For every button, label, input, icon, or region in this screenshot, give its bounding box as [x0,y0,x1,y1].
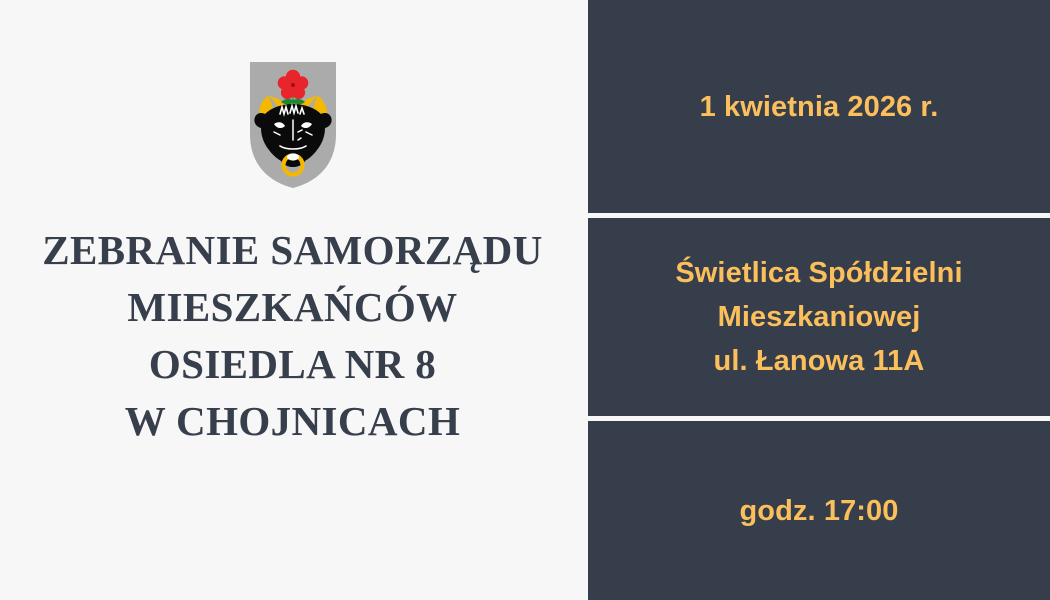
event-time-card: godz. 17:00 [588,421,1050,600]
headline-line-3: OSIEDLA NR 8 [42,336,542,393]
headline-line-4: W CHOJNICACH [42,393,542,450]
page-title: ZEBRANIE SAMORZĄDU MIESZKAŃCÓW OSIEDLA N… [12,222,572,450]
event-time-text: godz. 17:00 [739,489,898,533]
right-panel: 1 kwietnia 2026 r. Świetlica Spółdzielni… [585,0,1050,600]
left-panel: ZEBRANIE SAMORZĄDU MIESZKAŃCÓW OSIEDLA N… [0,0,585,600]
event-date-text: 1 kwietnia 2026 r. [700,85,939,129]
event-location-card: Świetlica Spółdzielni Mieszkaniowej ul. … [588,218,1050,416]
headline-line-2: MIESZKAŃCÓW [42,279,542,336]
event-date-card: 1 kwietnia 2026 r. [588,0,1050,213]
event-location-line-1: Świetlica Spółdzielni [675,251,962,295]
headline-line-1: ZEBRANIE SAMORZĄDU [42,222,542,279]
poster-root: ZEBRANIE SAMORZĄDU MIESZKAŃCÓW OSIEDLA N… [0,0,1050,600]
chojnice-coat-of-arms-icon [250,62,336,188]
event-location-line-3: ul. Łanowa 11A [714,339,925,383]
event-location-line-2: Mieszkaniowej [718,295,921,339]
